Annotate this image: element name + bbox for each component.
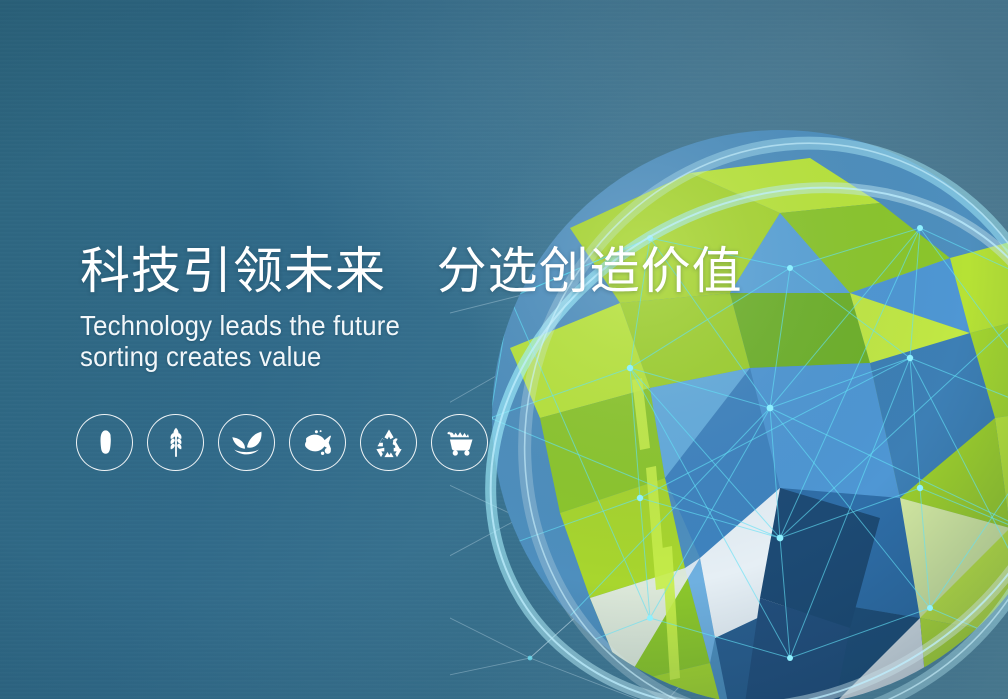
banner-copy: 科技引领未来 分选创造价值 Technology leads the futur…	[80, 241, 780, 372]
subtitle-line-1: Technology leads the future	[80, 310, 724, 341]
mine-cart-icon[interactable]	[431, 414, 488, 471]
wheat-ear-icon[interactable]	[147, 414, 204, 471]
industry-icon-row	[76, 414, 488, 471]
subtitle-line-2: sorting creates value	[80, 341, 724, 372]
recycle-icon[interactable]	[360, 414, 417, 471]
banner-subtitle: Technology leads the future sorting crea…	[80, 310, 724, 372]
rice-grain-icon[interactable]	[76, 414, 133, 471]
page-title: 科技引领未来 分选创造价值	[80, 241, 780, 301]
hero-banner: 科技引领未来 分选创造价值 Technology leads the futur…	[0, 0, 1008, 699]
tea-leaf-icon[interactable]	[218, 414, 275, 471]
fish-icon[interactable]	[289, 414, 346, 471]
